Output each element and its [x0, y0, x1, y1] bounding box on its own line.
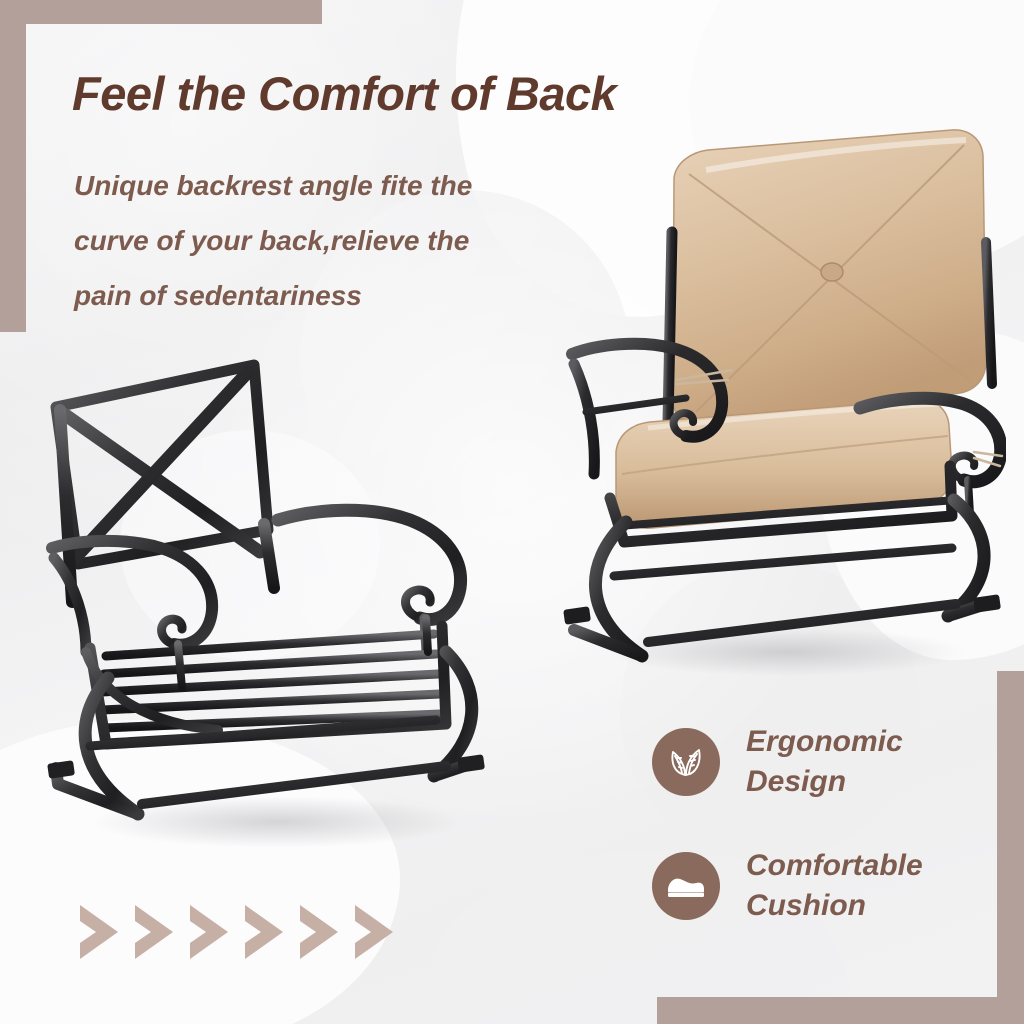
feature-label: Comfortable Cushion: [746, 846, 923, 926]
page-title: Feel the Comfort of Back: [72, 68, 892, 120]
subtitle-line: pain of sedentariness: [74, 268, 594, 323]
chevron-right-icon: [131, 903, 177, 961]
feature-item-comfortable-cushion: Comfortable Cushion: [652, 846, 982, 926]
product-image-chair-cushioned: [556, 122, 1006, 682]
feature-label: Ergonomic Design: [746, 722, 903, 802]
feature-list: Ergonomic Design Comfortable Cushion: [652, 722, 982, 970]
product-feature-banner: Feel the Comfort of Back Unique backrest…: [0, 0, 1024, 1024]
corner-frame-bottom-right-horizontal: [657, 997, 1024, 1024]
subtitle-paragraph: Unique backrest angle fite the curve of …: [74, 158, 594, 323]
chevron-right-icon: [76, 903, 122, 961]
subtitle-line: curve of your back,relieve the: [74, 213, 594, 268]
subtitle-line: Unique backrest angle fite the: [74, 158, 594, 213]
corner-frame-top-left-vertical: [0, 0, 26, 332]
leaf-icon: [652, 728, 720, 796]
chevron-arrow-group: [76, 903, 397, 961]
feature-item-ergonomic-design: Ergonomic Design: [652, 722, 982, 802]
cushion-icon: [652, 852, 720, 920]
corner-frame-top-left-horizontal: [0, 0, 322, 24]
chevron-right-icon: [351, 903, 397, 961]
chevron-right-icon: [296, 903, 342, 961]
chevron-right-icon: [241, 903, 287, 961]
corner-frame-bottom-right-vertical: [997, 671, 1024, 1024]
product-image-chair-frame: [42, 352, 502, 852]
chevron-right-icon: [186, 903, 232, 961]
